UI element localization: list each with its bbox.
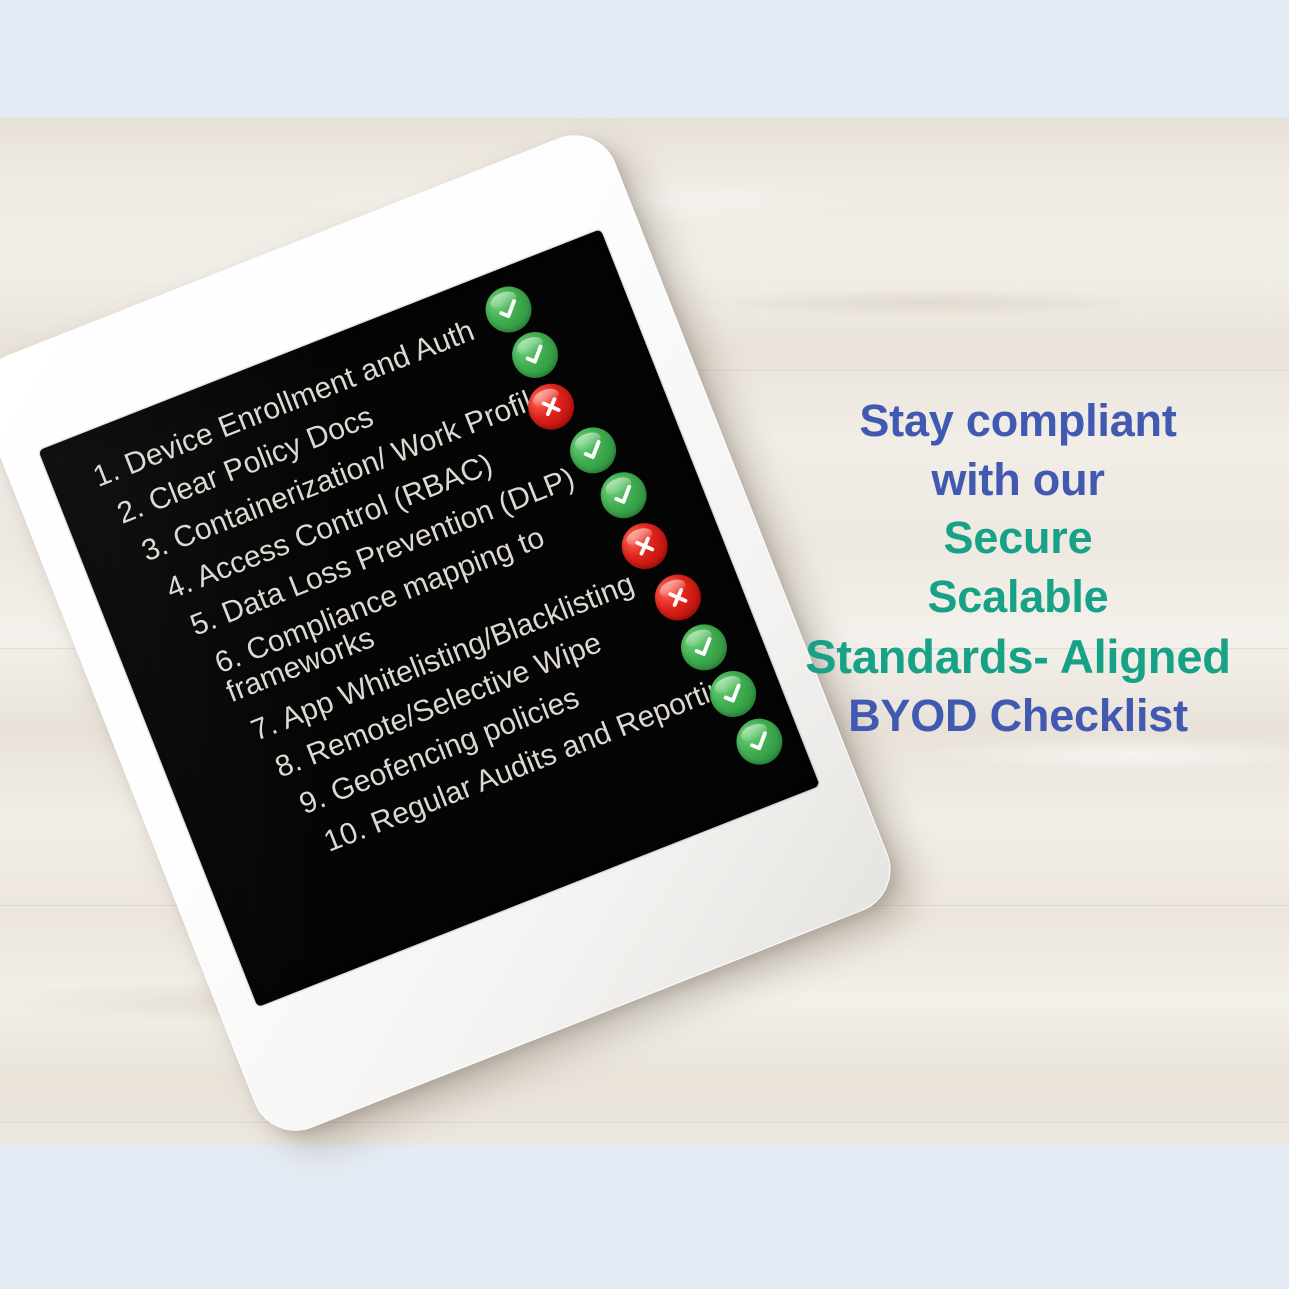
cross-circle-icon[interactable] — [615, 516, 675, 576]
headline-line: BYOD Checklist — [762, 687, 1274, 746]
cross-circle-icon[interactable] — [521, 377, 581, 437]
check-circle-icon[interactable] — [594, 465, 654, 525]
check-circle-icon[interactable] — [703, 664, 763, 724]
headline-line: with our — [762, 451, 1274, 510]
check-circle-icon[interactable] — [505, 325, 565, 385]
check-circle-icon[interactable] — [674, 618, 734, 678]
headline-line: Scalable — [762, 568, 1274, 627]
check-circle-icon[interactable] — [563, 421, 623, 481]
plank-seam — [0, 1122, 1289, 1124]
poster-canvas: 1. Device Enrollment and Auth2. Clear Po… — [0, 0, 1289, 1289]
cross-circle-icon[interactable] — [648, 568, 708, 628]
headline-block: Stay compliantwith ourSecureScalableStan… — [762, 392, 1274, 746]
headline-line: Standards- Aligned — [762, 626, 1274, 687]
check-circle-icon[interactable] — [479, 280, 539, 340]
headline-line: Stay compliant — [762, 392, 1274, 451]
headline-line: Secure — [762, 509, 1274, 568]
